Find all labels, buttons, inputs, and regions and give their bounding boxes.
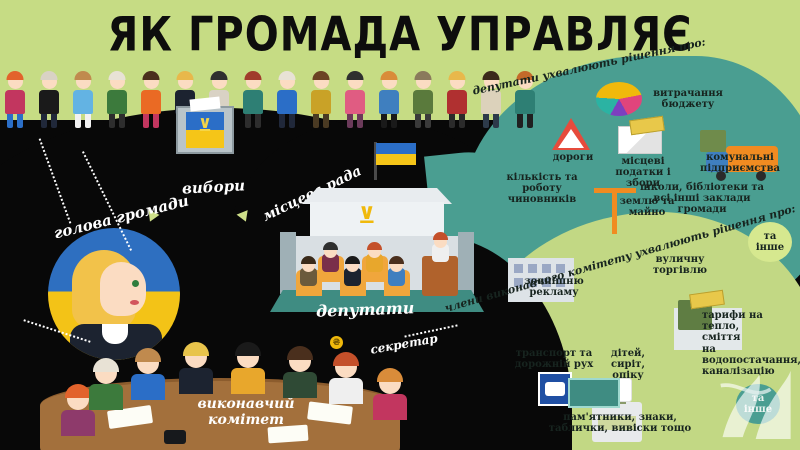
item-label-utilities: комунальні підприємства (692, 152, 788, 174)
citizen-figure (106, 74, 128, 128)
roadworks-sign-icon (552, 118, 590, 150)
citizen-figure (344, 74, 366, 128)
item-label-transport: транспорт та дорожній рух (508, 348, 600, 370)
committee-member (326, 356, 366, 404)
citizen-figure (412, 74, 434, 128)
item-label-children: дітей, сиріт, опіку (594, 348, 662, 381)
citizen-figure (242, 74, 264, 128)
committee-member (370, 372, 410, 420)
citizen-figure (72, 74, 94, 128)
speaker-podium (422, 256, 458, 296)
committee-member (128, 352, 168, 400)
bus-stop-sign-icon (538, 372, 572, 406)
page-title: ЯК ГРОМАДА УПРАВЛЯЄ (0, 8, 800, 62)
citizen-figure (378, 74, 400, 128)
waste-container-icon (700, 130, 726, 152)
item-label-budget: витрачання бюджету (646, 88, 730, 110)
committee-member (176, 346, 216, 394)
committee-member (86, 362, 126, 410)
item-label-street-trade: вуличну торгівлю (644, 254, 716, 276)
head-of-community-avatar (48, 228, 180, 360)
citizen-figure (140, 74, 162, 128)
deputies-label: депутати (316, 298, 415, 320)
item-label-roads: дороги (548, 152, 598, 163)
publisher-watermark (706, 358, 798, 450)
secretary-coin-icon: ₴ (330, 336, 343, 349)
council-building: ⊻ (262, 176, 492, 316)
citizen-figure (4, 74, 26, 128)
committee-member (280, 350, 320, 398)
deputies-more-badge: та інше (748, 222, 792, 262)
citizen-figure (446, 74, 468, 128)
item-label-outdoor-ads: зовнішню рекламу (518, 276, 590, 298)
item-label-schools: школи, бібліотеки та всі інші заклади гр… (636, 182, 768, 215)
item-label-monuments: пам'ятники, знаки, таблички, вивіски тощ… (540, 412, 700, 434)
elections-label: вибори (182, 176, 246, 197)
pie-chart-icon (596, 82, 642, 116)
citizen-figure (38, 74, 60, 128)
citizen-figure (310, 74, 332, 128)
infographic-poster: ЯК ГРОМАДА УПРАВЛЯЄ ⊻ вибори голова гром… (0, 0, 800, 450)
committee-member (228, 346, 268, 394)
executive-committee-label: виконавчий комітет (186, 396, 306, 428)
citizen-figure (276, 74, 298, 128)
memorial-plaque-icon (568, 378, 620, 408)
ballot-box-icon: ⊻ (176, 98, 234, 154)
item-label-tariffs: тарифи на тепло, сміття (702, 310, 778, 343)
item-label-officials: кількість та роботу чиновників (500, 172, 584, 205)
